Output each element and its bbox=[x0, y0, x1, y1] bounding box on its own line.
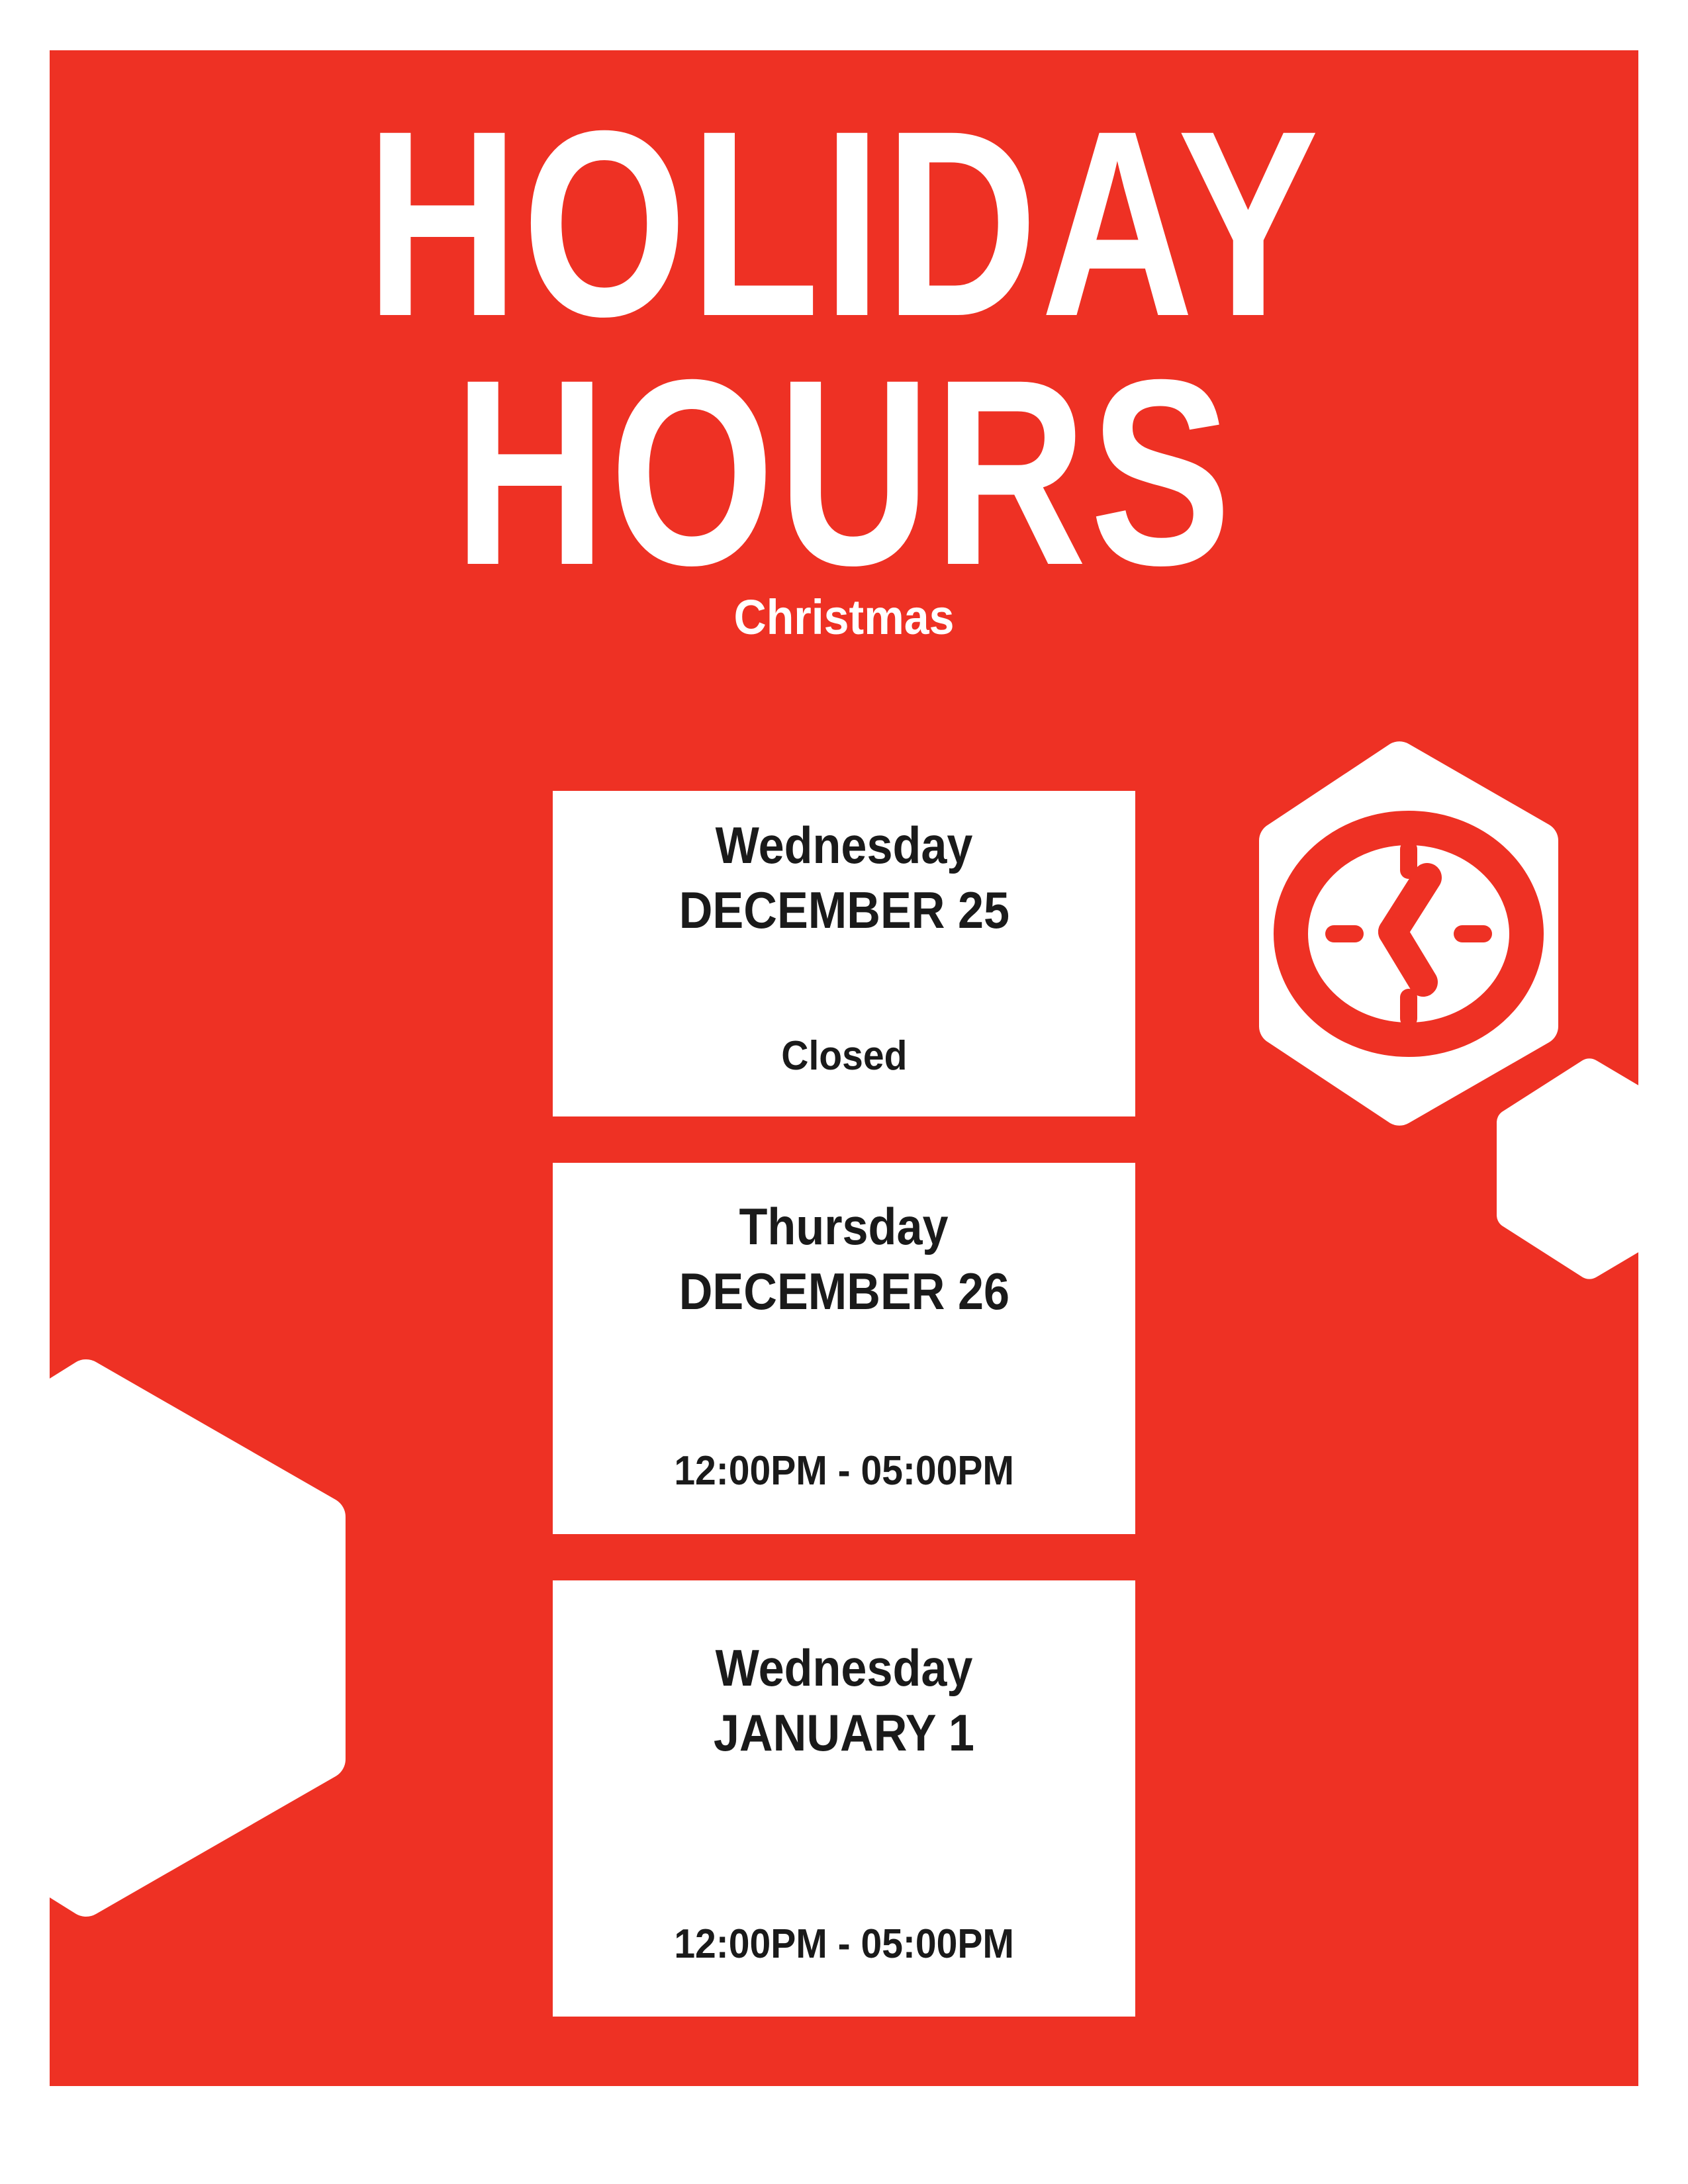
title-line-hours: HOURS bbox=[209, 348, 1479, 597]
schedule-card: Thursday DECEMBER 26 12:00PM - 05:00PM bbox=[553, 1163, 1135, 1534]
schedule-card: Wednesday JANUARY 1 12:00PM - 05:00PM bbox=[553, 1580, 1135, 2017]
clock-icon bbox=[1250, 740, 1568, 1127]
schedule-date: DECEMBER 25 bbox=[679, 880, 1009, 940]
schedule-card: Wednesday DECEMBER 25 Closed bbox=[553, 791, 1135, 1116]
schedule-date: DECEMBER 26 bbox=[679, 1261, 1009, 1322]
page-title: HOLIDAY HOURS bbox=[50, 99, 1638, 597]
schedule-hours: 12:00PM - 05:00PM bbox=[674, 1920, 1014, 1969]
schedule-hours: 12:00PM - 05:00PM bbox=[674, 1447, 1014, 1496]
poster-subtitle: Christmas bbox=[113, 589, 1575, 645]
title-line-holiday: HOLIDAY bbox=[209, 99, 1479, 348]
schedule-hours: Closed bbox=[781, 1032, 907, 1081]
schedule-date: JANUARY 1 bbox=[714, 1702, 974, 1763]
schedule-day: Thursday bbox=[739, 1196, 949, 1257]
hexagon-shape-bottom-left bbox=[50, 1357, 348, 1919]
schedule-day: Wednesday bbox=[716, 1637, 973, 1698]
holiday-hours-poster: HOLIDAY HOURS Christmas Wednesday DECEMB… bbox=[0, 0, 1688, 2184]
schedule-day: Wednesday bbox=[716, 815, 973, 876]
